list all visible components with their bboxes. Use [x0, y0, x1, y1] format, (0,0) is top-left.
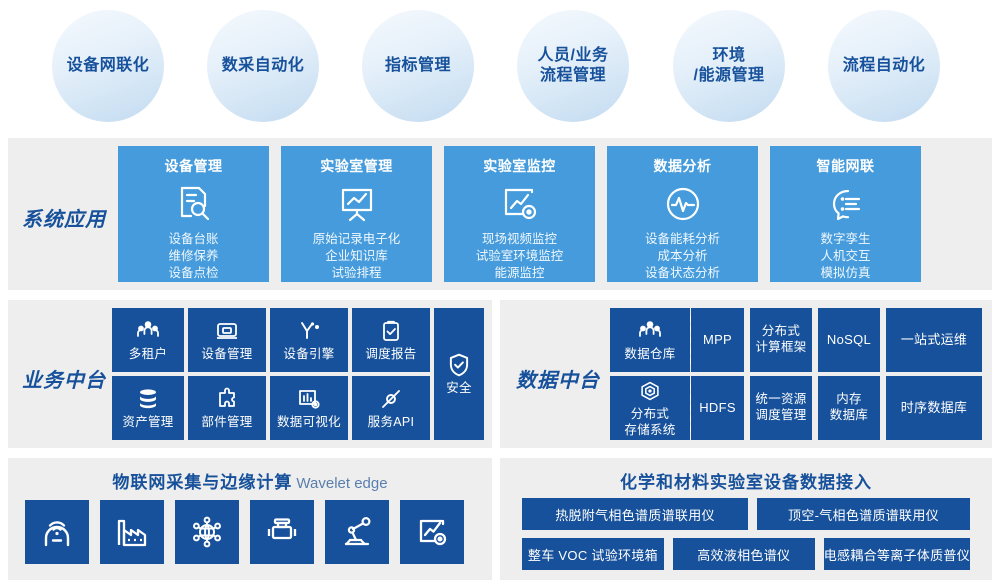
tile-label: 分布式 计算框架 — [755, 324, 806, 355]
capability-bubble-label: 人员/业务 流程管理 — [538, 46, 609, 87]
card-title: 实验室管理 — [320, 156, 393, 176]
lab-pill-headspace-gcms[interactable]: 顶空-气相色谱质谱联用仪 — [757, 498, 970, 530]
lab-equipment-panel: 化学和材料实验室设备数据接入 热脱附气相色谱质谱联用仪 顶空-气相色谱质谱联用仪… — [500, 458, 992, 580]
business-tile-schedule-report[interactable]: 调度报告 — [352, 308, 430, 372]
system-application-card-lab-management[interactable]: 实验室管理 原始记录电子化 企业知识库 试验排程 — [281, 146, 432, 282]
valve-sensor-icon — [264, 514, 300, 550]
data-tile-nosql[interactable]: NoSQL — [818, 308, 880, 372]
capability-bubble-row: 设备网联化 数采自动化 指标管理 人员/业务 流程管理 环境 /能源管理 流程自… — [0, 0, 1000, 132]
card-title: 数据分析 — [654, 156, 712, 176]
capability-bubble-0[interactable]: 设备网联化 — [52, 10, 164, 122]
capability-bubble-label: 数采自动化 — [222, 56, 305, 76]
iot-icon-list — [25, 500, 464, 564]
tile-label: 统一资源 调度管理 — [755, 392, 806, 423]
tile-label: 数据可视化 — [277, 415, 341, 431]
capability-bubble-2[interactable]: 指标管理 — [362, 10, 474, 122]
lab-pill-voc-chamber[interactable]: 整车 VOC 试验环境箱 — [522, 538, 664, 570]
iot-edge-panel: 物联网采集与边缘计算Wavelet edge — [8, 458, 492, 580]
tile-label: 分布式 存储系统 — [624, 407, 675, 438]
network-globe-icon — [189, 514, 225, 550]
factory-icon — [114, 514, 150, 550]
business-tile-component-management[interactable]: 部件管理 — [188, 376, 266, 440]
database-asset-icon — [136, 386, 160, 412]
tile-label: 设备管理 — [201, 347, 252, 363]
iot-tile-valve-sensor[interactable] — [250, 500, 314, 564]
iot-tile-monitor-chart[interactable] — [400, 500, 464, 564]
lab-equipment-row-2: 整车 VOC 试验环境箱 高效液相色谱仪 电感耦合等离子体质普仪 — [522, 538, 970, 570]
business-tile-device-engine[interactable]: 设备引擎 — [270, 308, 348, 372]
lab-pill-label: 高效液相色谱仪 — [697, 545, 790, 564]
iot-tile-factory[interactable] — [100, 500, 164, 564]
lab-pill-label: 电感耦合等离子体质普仪 — [824, 545, 970, 564]
business-tile-asset-management[interactable]: 资产管理 — [112, 376, 184, 440]
iot-tile-network-globe[interactable] — [175, 500, 239, 564]
tile-label: 设备引擎 — [283, 347, 334, 363]
capability-bubble-label: 流程自动化 — [843, 56, 926, 76]
capability-bubble-4[interactable]: 环境 /能源管理 — [673, 10, 785, 122]
data-tile-warehouse[interactable]: 数据仓库 — [610, 308, 690, 372]
system-application-card-data-analysis[interactable]: 数据分析 设备能耗分析 成本分析 设备状态分析 — [607, 146, 758, 282]
iot-tile-robot-arm[interactable] — [325, 500, 389, 564]
iot-edge-title: 物联网采集与边缘计算 — [112, 473, 292, 492]
card-title: 实验室监控 — [483, 156, 556, 176]
iot-edge-title-bar: 物联网采集与边缘计算Wavelet edge — [8, 468, 492, 493]
head-ai-icon — [825, 183, 867, 225]
system-application-card-intelligent-connection[interactable]: 智能网联 数字孪生 人机交互 模拟仿真 — [770, 146, 921, 282]
data-tile-distributed-compute[interactable]: 分布式 计算框架 — [750, 308, 812, 372]
engine-node-icon — [297, 318, 321, 344]
monitor-chart-eye-icon — [499, 183, 541, 225]
business-tile-multi-tenant[interactable]: 多租户 — [112, 308, 184, 372]
tile-label: NoSQL — [827, 332, 871, 348]
lab-pill-thermal-desorption-gcms[interactable]: 热脱附气相色谱质谱联用仪 — [522, 498, 748, 530]
puzzle-piece-icon — [215, 386, 239, 412]
device-box-icon — [215, 318, 239, 344]
data-tile-hdfs[interactable]: HDFS — [691, 376, 744, 440]
card-description: 设备能耗分析 成本分析 设备状态分析 — [645, 231, 720, 281]
data-platform-row-label: 数据中台 — [516, 364, 600, 393]
capability-bubble-label: 设备网联化 — [67, 56, 150, 76]
api-link-icon — [379, 386, 403, 412]
business-platform-row-label: 业务中台 — [22, 364, 106, 393]
tile-label: HDFS — [699, 400, 736, 416]
document-wrench-icon — [173, 183, 215, 225]
pulse-circle-icon — [662, 183, 704, 225]
iot-tile-wifi-gateway[interactable] — [25, 500, 89, 564]
lab-equipment-title: 化学和材料实验室设备数据接入 — [500, 468, 992, 493]
clipboard-check-icon — [379, 318, 403, 344]
capability-bubble-label: 指标管理 — [385, 56, 451, 76]
tile-label: 安全 — [446, 381, 472, 397]
tile-label: 时序数据库 — [901, 400, 968, 416]
lab-equipment-pill-list: 热脱附气相色谱质谱联用仪 顶空-气相色谱质谱联用仪 整车 VOC 试验环境箱 高… — [522, 498, 970, 578]
tile-label: 服务API — [368, 415, 415, 431]
shield-check-icon — [446, 352, 472, 378]
card-title: 设备管理 — [165, 156, 223, 176]
capability-bubble-3[interactable]: 人员/业务 流程管理 — [517, 10, 629, 122]
monitor-chart-icon — [414, 514, 450, 550]
tile-label: 调度报告 — [365, 347, 416, 363]
card-description: 原始记录电子化 企业知识库 试验排程 — [313, 231, 401, 281]
architecture-diagram: 设备网联化 数采自动化 指标管理 人员/业务 流程管理 环境 /能源管理 流程自… — [0, 0, 1000, 588]
tile-label: 资产管理 — [122, 415, 173, 431]
data-tile-mpp[interactable]: MPP — [691, 308, 744, 372]
warehouse-people-icon — [638, 318, 662, 344]
capability-bubble-5[interactable]: 流程自动化 — [828, 10, 940, 122]
system-application-card-list: 设备管理 设备台账 维修保养 设备点检 实验室管理 — [118, 146, 921, 282]
tile-label: 多租户 — [129, 347, 167, 363]
iot-edge-subtitle: Wavelet edge — [296, 475, 387, 492]
business-tile-device-management[interactable]: 设备管理 — [188, 308, 266, 372]
presentation-chart-icon — [336, 183, 378, 225]
lab-pill-label: 整车 VOC 试验环境箱 — [528, 545, 658, 564]
tile-label: 部件管理 — [201, 415, 252, 431]
business-tile-data-visualization[interactable]: 数据可视化 — [270, 376, 348, 440]
tile-label: 内存 数据库 — [830, 392, 868, 423]
robot-arm-icon — [339, 514, 375, 550]
tile-label: MPP — [703, 332, 732, 348]
tile-label: 一站式运维 — [901, 332, 968, 348]
chart-board-icon — [297, 386, 321, 412]
lab-pill-icp-ms[interactable]: 电感耦合等离子体质普仪 — [824, 538, 970, 570]
lab-pill-label: 顶空-气相色谱质谱联用仪 — [788, 505, 939, 524]
tile-label: 数据仓库 — [624, 347, 675, 363]
data-tile-distributed-storage[interactable]: 分布式 存储系统 — [610, 376, 690, 440]
data-tile-unified-resource-scheduling[interactable]: 统一资源 调度管理 — [750, 376, 812, 440]
card-title: 智能网联 — [817, 156, 875, 176]
card-description: 现场视频监控 试验室环境监控 能源监控 — [476, 231, 564, 281]
lab-pill-hplc[interactable]: 高效液相色谱仪 — [673, 538, 815, 570]
capability-bubble-1[interactable]: 数采自动化 — [207, 10, 319, 122]
capability-bubble-label: 环境 /能源管理 — [694, 46, 765, 87]
system-application-row-label: 系统应用 — [22, 203, 106, 232]
lab-equipment-row-1: 热脱附气相色谱质谱联用仪 顶空-气相色谱质谱联用仪 — [522, 498, 970, 530]
card-description: 数字孪生 人机交互 模拟仿真 — [820, 231, 870, 281]
system-application-panel: 设备管理 设备台账 维修保养 设备点检 实验室管理 — [8, 138, 992, 290]
system-application-card-lab-monitoring[interactable]: 实验室监控 现场视频监控 试验室环境监控 能源监控 — [444, 146, 595, 282]
lab-pill-label: 热脱附气相色谱质谱联用仪 — [555, 505, 715, 524]
data-tile-in-memory-db[interactable]: 内存 数据库 — [818, 376, 880, 440]
wifi-gateway-icon — [39, 514, 75, 550]
data-tile-one-stop-ops[interactable]: 一站式运维 — [886, 308, 982, 372]
business-tile-service-api[interactable]: 服务API — [352, 376, 430, 440]
business-tile-security[interactable]: 安全 — [434, 308, 484, 440]
distributed-storage-icon — [639, 378, 661, 404]
data-tile-timeseries-db[interactable]: 时序数据库 — [886, 376, 982, 440]
multi-tenant-icon — [136, 318, 160, 344]
system-application-card-device-management[interactable]: 设备管理 设备台账 维修保养 设备点检 — [118, 146, 269, 282]
card-description: 设备台账 维修保养 设备点检 — [168, 231, 218, 281]
